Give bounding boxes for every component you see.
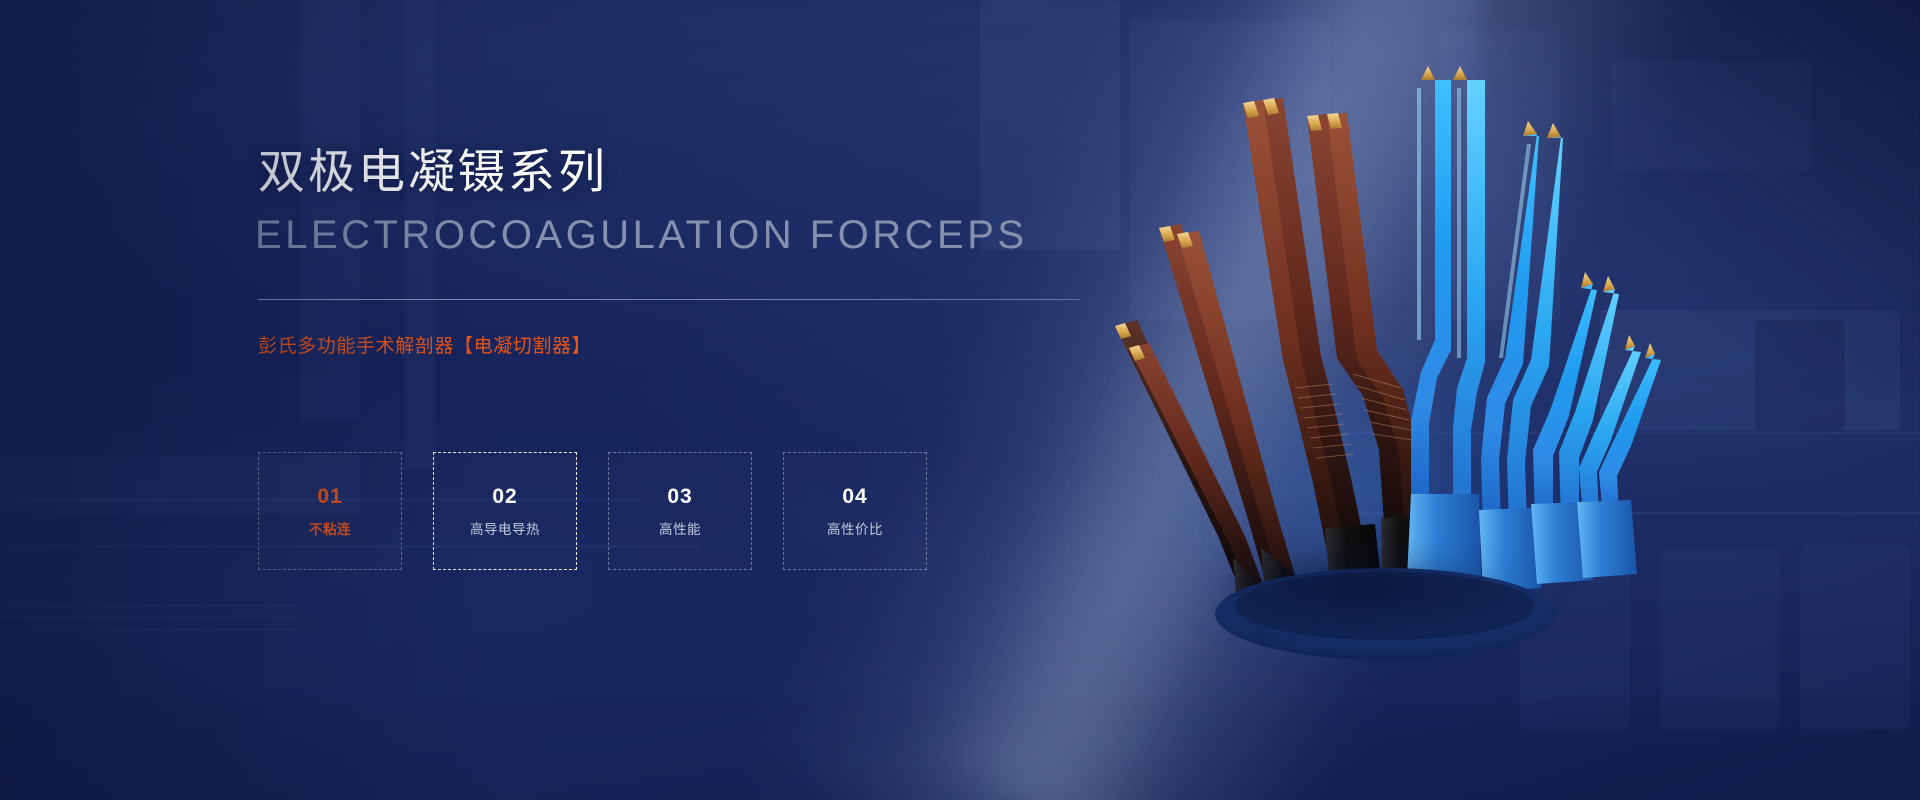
product-banner: 双极电凝镊系列 ELECTROCOAGULATION FORCEPS 彭氏多功能… — [0, 0, 1920, 800]
page-title-chinese: 双极电凝镊系列 — [258, 148, 608, 195]
feature-caption: 高导电导热 — [470, 523, 540, 537]
product-subtitle: 彭氏多功能手术解剖器【电凝切割器】 — [258, 337, 591, 356]
title-divider — [258, 299, 1080, 300]
feature-card-01[interactable]: 01 不粘连 — [258, 452, 402, 570]
feature-list: 01 不粘连 02 高导电导热 03 高性能 04 高性价比 — [258, 452, 958, 570]
bg-wall-seam — [1300, 432, 1920, 434]
bg-shelf-band-3 — [0, 628, 300, 631]
bg-shelf-band-1 — [0, 604, 300, 607]
feature-number: 02 — [492, 486, 517, 507]
feature-caption: 高性能 — [659, 523, 701, 537]
feature-number: 01 — [317, 486, 342, 507]
corner-shade — [1480, 0, 1920, 390]
bg-shelf-band-2 — [0, 616, 300, 619]
page-title-english: ELECTROCOAGULATION FORCEPS — [255, 215, 1028, 255]
feature-number: 03 — [667, 486, 692, 507]
bg-counter-edge — [1360, 512, 1920, 515]
feature-card-03[interactable]: 03 高性能 — [608, 452, 752, 570]
feature-caption: 不粘连 — [309, 523, 351, 537]
banner-content: 双极电凝镊系列 ELECTROCOAGULATION FORCEPS 彭氏多功能… — [258, 0, 1258, 800]
feature-number: 04 — [842, 486, 867, 507]
feature-card-04[interactable]: 04 高性价比 — [783, 452, 927, 570]
feature-caption: 高性价比 — [827, 523, 883, 537]
feature-card-02[interactable]: 02 高导电导热 — [433, 452, 577, 570]
